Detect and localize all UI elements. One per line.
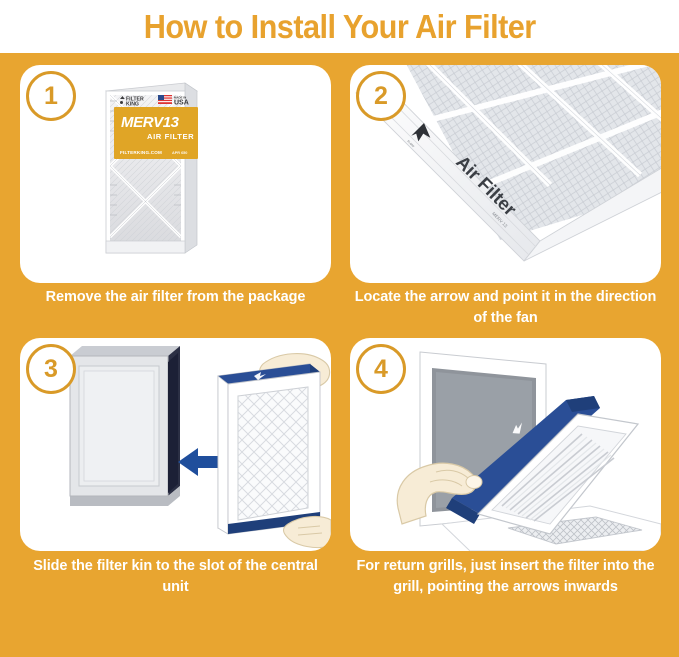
svg-text:AIR FILTER: AIR FILTER — [147, 132, 194, 141]
step-card-2: FLOW Air Filter MERV 13 2 Loca — [350, 65, 661, 348]
step-4-card-surface: 4 — [350, 338, 661, 551]
central-unit — [70, 346, 180, 506]
product-label: MERV13 AIR FILTER FILTERKING.COM APR 650 — [114, 107, 198, 159]
step-number-badge-3: 3 — [26, 344, 76, 394]
svg-text:FILTERKING.COM: FILTERKING.COM — [120, 150, 162, 155]
direction-arrow — [178, 448, 220, 476]
step-card-3: 3 Slide the filter kin to the slot of th… — [20, 338, 331, 621]
filter-panel — [218, 364, 320, 534]
step-card-4: 4 For return grills, just insert the fil… — [350, 338, 661, 621]
svg-text:MERV13: MERV13 — [121, 114, 180, 131]
infographic-root: How to Install Your Air Filter — [0, 0, 679, 657]
steps-board: MERV13 AIR FILTER FILTERKING.COM APR 650… — [0, 53, 679, 657]
svg-text:USA: USA — [174, 100, 189, 107]
step-caption-2: Locate the arrow and point it in the dir… — [350, 287, 661, 329]
header-bar: How to Install Your Air Filter — [0, 0, 679, 53]
step-caption-4: For return grills, just insert the filte… — [350, 556, 661, 598]
step-3-card-surface: 3 — [20, 338, 331, 551]
step-number-badge-4: 4 — [356, 344, 406, 394]
svg-text:KING: KING — [126, 102, 139, 108]
svg-text:APR 650: APR 650 — [172, 151, 187, 155]
page-title: How to Install Your Air Filter — [144, 8, 536, 46]
step-number-badge-2: 2 — [356, 71, 406, 121]
step-1-card-surface: MERV13 AIR FILTER FILTERKING.COM APR 650… — [20, 65, 331, 283]
step-number-badge-1: 1 — [26, 71, 76, 121]
step-caption-1: Remove the air filter from the package — [20, 287, 331, 308]
steps-grid: MERV13 AIR FILTER FILTERKING.COM APR 650… — [0, 53, 679, 657]
step-2-card-surface: FLOW Air Filter MERV 13 2 — [350, 65, 661, 283]
step-caption-3: Slide the filter kin to the slot of the … — [20, 556, 331, 598]
step-card-1: MERV13 AIR FILTER FILTERKING.COM APR 650… — [20, 65, 331, 348]
